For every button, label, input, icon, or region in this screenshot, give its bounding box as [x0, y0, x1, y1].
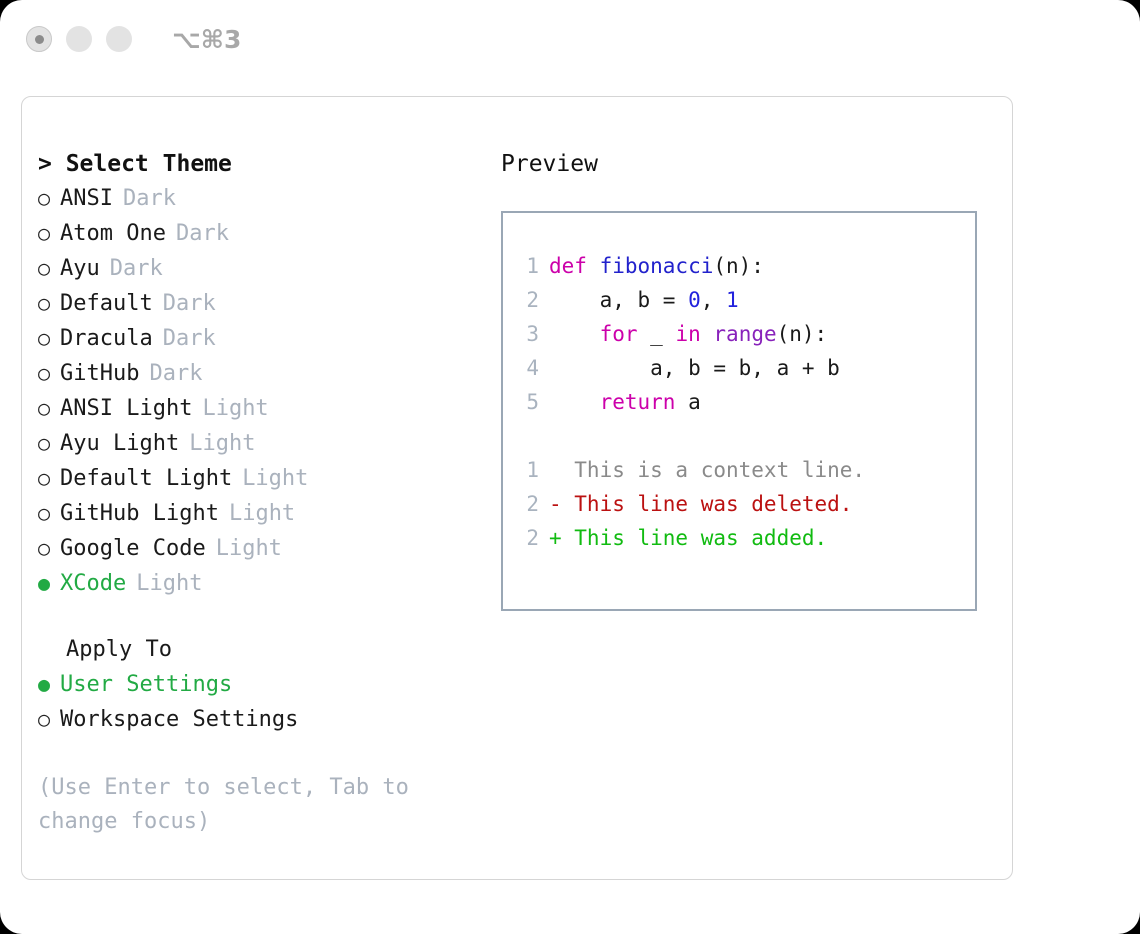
- theme-option-0[interactable]: ○ANSIDark: [38, 181, 468, 216]
- code-token: + This line was added.: [549, 526, 827, 550]
- apply-to-list: ●User Settings○Workspace Settings: [38, 667, 468, 737]
- code-token: in: [675, 322, 700, 346]
- theme-option-label: GitHub: [60, 357, 139, 391]
- theme-option-variant-tag: Light: [242, 462, 308, 496]
- window-dot-active-center: [35, 35, 44, 44]
- code-line: 1def fibonacci(n):: [515, 249, 975, 283]
- code-token: (n):: [777, 322, 828, 346]
- theme-option-9[interactable]: ○GitHub LightLight: [38, 496, 468, 531]
- code-token: [549, 390, 600, 414]
- theme-option-label: ANSI: [60, 182, 113, 216]
- radio-unselected-icon: ○: [38, 426, 60, 460]
- theme-option-variant-tag: Dark: [163, 322, 216, 356]
- code-token: a, b =: [549, 288, 688, 312]
- theme-option-variant-tag: Dark: [110, 252, 163, 286]
- code-line-content: a, b = b, a + b: [549, 351, 840, 385]
- preview-column: Preview 1def fibonacci(n):2 a, b = 0, 13…: [501, 147, 981, 611]
- code-line-content: for _ in range(n):: [549, 317, 827, 351]
- code-line-number: 4: [515, 351, 549, 385]
- list-spacer: [38, 601, 468, 633]
- apply-to-option-label: User Settings: [60, 668, 232, 702]
- code-token: range: [713, 322, 776, 346]
- window-dot-third[interactable]: [106, 26, 132, 52]
- theme-option-label: ANSI Light: [60, 392, 192, 426]
- diff-sample: 1 This is a context line.2- This line wa…: [515, 453, 975, 555]
- theme-option-variant-tag: Dark: [123, 182, 176, 216]
- code-line-number: 5: [515, 385, 549, 419]
- theme-option-label: Ayu Light: [60, 427, 179, 461]
- theme-option-8[interactable]: ○Default LightLight: [38, 461, 468, 496]
- apply-to-heading: Apply To: [38, 633, 468, 667]
- radio-unselected-icon: ○: [38, 216, 60, 250]
- radio-unselected-icon: ○: [38, 391, 60, 425]
- apply-to-option-1[interactable]: ○Workspace Settings: [38, 702, 468, 737]
- code-line-content: return a: [549, 385, 701, 419]
- preview-box: 1def fibonacci(n):2 a, b = 0, 13 for _ i…: [501, 211, 977, 611]
- app-window: ⌥⌘3 > Select Theme ○ANSIDark○Atom OneDar…: [0, 0, 1140, 934]
- window-dot-active[interactable]: [26, 26, 52, 52]
- window-dot-second[interactable]: [66, 26, 92, 52]
- radio-unselected-icon: ○: [38, 251, 60, 285]
- diff-line-content: This is a context line.: [549, 453, 865, 487]
- preview-heading: Preview: [501, 147, 981, 181]
- diff-line-number: 2: [515, 521, 549, 555]
- apply-to-option-label: Workspace Settings: [60, 703, 298, 737]
- code-token: [701, 322, 714, 346]
- theme-option-label: Ayu: [60, 252, 100, 286]
- code-diff-separator: [515, 419, 975, 453]
- theme-option-label: XCode: [60, 567, 126, 601]
- theme-option-label: Default: [60, 287, 153, 321]
- theme-option-label: GitHub Light: [60, 497, 219, 531]
- diff-line-number: 2: [515, 487, 549, 521]
- main-panel: > Select Theme ○ANSIDark○Atom OneDark○Ay…: [21, 96, 1013, 880]
- radio-unselected-icon: ○: [38, 286, 60, 320]
- radio-unselected-icon: ○: [38, 496, 60, 530]
- theme-option-variant-tag: Dark: [149, 357, 202, 391]
- code-line-content: a, b = 0, 1: [549, 283, 739, 317]
- theme-option-variant-tag: Light: [136, 567, 202, 601]
- theme-option-label: Default Light: [60, 462, 232, 496]
- code-token: return: [600, 390, 676, 414]
- theme-list: ○ANSIDark○Atom OneDark○AyuDark○DefaultDa…: [38, 181, 468, 601]
- theme-option-variant-tag: Dark: [176, 217, 229, 251]
- code-token: - This line was deleted.: [549, 492, 852, 516]
- radio-unselected-icon: ○: [38, 702, 60, 736]
- code-line-number: 1: [515, 249, 549, 283]
- code-line: 5 return a: [515, 385, 975, 419]
- window-controls: [26, 26, 132, 52]
- radio-selected-icon: ●: [38, 566, 60, 600]
- code-token: This is a context line.: [549, 458, 865, 482]
- theme-option-3[interactable]: ○DefaultDark: [38, 286, 468, 321]
- theme-option-label: Dracula: [60, 322, 153, 356]
- theme-option-label: Google Code: [60, 532, 206, 566]
- keyboard-hint-text: (Use Enter to select, Tab to change focu…: [38, 771, 438, 839]
- theme-option-variant-tag: Light: [216, 532, 282, 566]
- code-token: def: [549, 254, 600, 278]
- diff-line-content: - This line was deleted.: [549, 487, 852, 521]
- titlebar: ⌥⌘3: [0, 0, 1140, 78]
- code-line: 2 a, b = 0, 1: [515, 283, 975, 317]
- theme-option-11[interactable]: ●XCodeLight: [38, 566, 468, 601]
- code-token: 1: [726, 288, 739, 312]
- theme-option-1[interactable]: ○Atom OneDark: [38, 216, 468, 251]
- diff-line: 2+ This line was added.: [515, 521, 975, 555]
- theme-option-2[interactable]: ○AyuDark: [38, 251, 468, 286]
- apply-to-option-0[interactable]: ●User Settings: [38, 667, 468, 702]
- select-theme-heading: > Select Theme: [38, 147, 468, 181]
- code-line: 4 a, b = b, a + b: [515, 351, 975, 385]
- theme-option-variant-tag: Light: [229, 497, 295, 531]
- diff-line-number: 1: [515, 453, 549, 487]
- code-token: 0: [688, 288, 701, 312]
- code-line-content: def fibonacci(n):: [549, 249, 764, 283]
- theme-option-4[interactable]: ○DraculaDark: [38, 321, 468, 356]
- code-sample: 1def fibonacci(n):2 a, b = 0, 13 for _ i…: [515, 249, 975, 419]
- theme-option-label: Atom One: [60, 217, 166, 251]
- diff-line-content: + This line was added.: [549, 521, 827, 555]
- radio-selected-icon: ●: [38, 667, 60, 701]
- theme-option-variant-tag: Light: [202, 392, 268, 426]
- code-token: a, b = b, a + b: [549, 356, 840, 380]
- radio-unselected-icon: ○: [38, 461, 60, 495]
- code-line-number: 3: [515, 317, 549, 351]
- code-token: _: [638, 322, 676, 346]
- code-token: a: [675, 390, 700, 414]
- radio-unselected-icon: ○: [38, 356, 60, 390]
- theme-option-variant-tag: Light: [189, 427, 255, 461]
- radio-unselected-icon: ○: [38, 321, 60, 355]
- code-line: 3 for _ in range(n):: [515, 317, 975, 351]
- theme-option-variant-tag: Dark: [163, 287, 216, 321]
- radio-unselected-icon: ○: [38, 181, 60, 215]
- code-token: [549, 322, 600, 346]
- radio-unselected-icon: ○: [38, 531, 60, 565]
- theme-picker-column: > Select Theme ○ANSIDark○Atom OneDark○Ay…: [38, 147, 468, 839]
- diff-line: 1 This is a context line.: [515, 453, 975, 487]
- code-token: fibonacci: [600, 254, 714, 278]
- keyboard-shortcut-label: ⌥⌘3: [172, 25, 241, 54]
- diff-line: 2- This line was deleted.: [515, 487, 975, 521]
- code-token: ,: [701, 288, 726, 312]
- theme-option-10[interactable]: ○Google CodeLight: [38, 531, 468, 566]
- code-line-number: 2: [515, 283, 549, 317]
- theme-option-5[interactable]: ○GitHubDark: [38, 356, 468, 391]
- theme-option-7[interactable]: ○Ayu LightLight: [38, 426, 468, 461]
- code-token: (n):: [713, 254, 764, 278]
- theme-option-6[interactable]: ○ANSI LightLight: [38, 391, 468, 426]
- code-token: for: [600, 322, 638, 346]
